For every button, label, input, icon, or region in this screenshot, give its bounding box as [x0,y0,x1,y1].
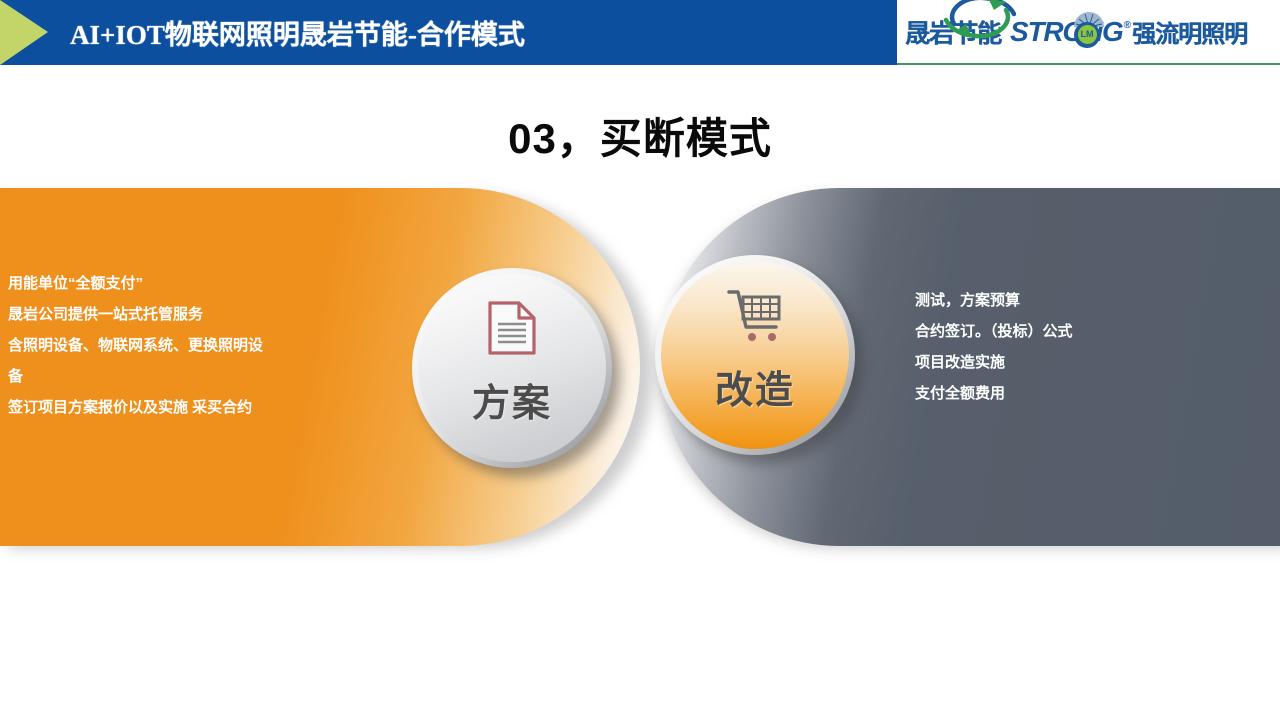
right-text-line: 测试，方案预算 [915,285,1215,316]
left-text-line: 签订项目方案报价以及实施 采买合约 [8,392,348,423]
right-text-line: 支付全额费用 [915,378,1215,409]
left-text-line: 备 [8,361,348,392]
logo-strong-group: STRONG LM ® [1010,16,1131,48]
circle-plan-label: 方案 [472,372,552,427]
circle-plan-face: 方案 [418,274,606,462]
left-text-line: 含照明设备、物联网系统、更换照明设 [8,330,348,361]
document-icon [487,300,537,356]
logo-lm-text: LM [1078,25,1097,44]
logo-brand-cn2: 强流明照明 [1132,14,1247,49]
right-panel-text: 测试，方案预算 合约签订。（投标）公式 项目改造实施 支付全额费用 [915,285,1215,409]
circle-plan[interactable]: 方案 [412,268,612,468]
slide-root: AI+IOT物联网照明晟岩节能-合作模式 晟岩节能 [0,0,1280,720]
shopping-cart-icon [726,287,784,343]
left-panel-text: 用能单位“全额支付” 晟岩公司提供一站式托管服务 含照明设备、物联网系统、更换照… [8,268,348,423]
right-text-line: 项目改造实施 [915,347,1215,378]
logo-lm-badge: LM [1074,22,1100,48]
circle-retrofit-face: 改造 [661,261,849,449]
left-text-line: 晟岩公司提供一站式托管服务 [8,299,348,330]
company-logo: 晟岩节能 [897,0,1280,65]
logo-brand-cn: 晟岩节能 [905,14,1001,50]
page-title: AI+IOT物联网照明晟岩节能-合作模式 [70,0,525,65]
left-text-line: 用能单位“全额支付” [8,268,348,299]
header-bar: AI+IOT物联网照明晟岩节能-合作模式 晟岩节能 [0,0,1280,65]
circle-retrofit[interactable]: 改造 [655,255,855,455]
circle-retrofit-body: 改造 [655,255,855,455]
slide-title: 03，买断模式 [0,105,1280,166]
chevron-right-icon [0,0,48,65]
circle-retrofit-label: 改造 [715,359,795,414]
circle-plan-body: 方案 [412,268,612,468]
registered-mark: ® [1124,20,1131,31]
right-text-line: 合约签订。（投标）公式 [915,316,1215,347]
